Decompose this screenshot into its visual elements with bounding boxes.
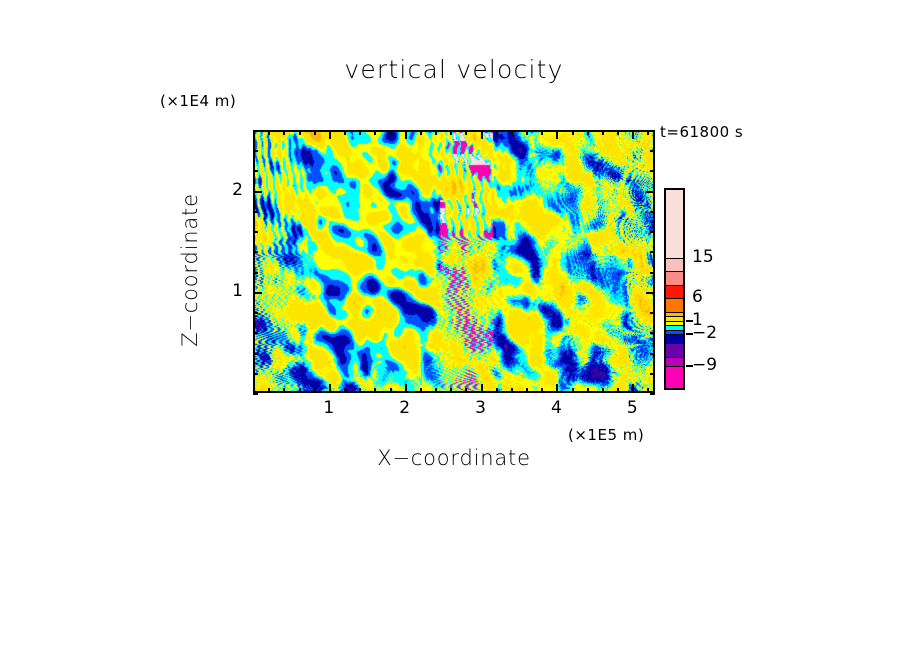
x-major-tick-top: [329, 130, 331, 139]
y-minor-tick-right: [650, 393, 655, 395]
colorbar-band: [666, 190, 683, 258]
x-major-tick: [329, 384, 331, 393]
x-minor-tick: [390, 388, 392, 393]
x-minor-tick-top: [450, 130, 452, 135]
x-major-tick-top: [632, 130, 634, 139]
x-tick-label: 4: [541, 398, 571, 418]
x-minor-tick-top: [572, 130, 574, 135]
x-major-tick: [405, 384, 407, 393]
colorbar-band: [666, 298, 683, 312]
x-minor-tick: [299, 388, 301, 393]
colorbar-band: [666, 343, 683, 357]
y-major-tick: [253, 292, 262, 294]
y-major-tick: [253, 191, 262, 193]
figure-canvas: vertical velocity (×1E4 m) t=61800 s 123…: [0, 0, 904, 654]
x-minor-tick-top: [647, 130, 649, 135]
x-axis-unit-label: (×1E5 m): [568, 426, 644, 444]
y-minor-tick: [253, 373, 258, 375]
colorbar-tick-label: 15: [692, 247, 714, 267]
y-minor-tick: [253, 211, 258, 213]
x-minor-tick: [602, 388, 604, 393]
x-minor-tick: [587, 388, 589, 393]
time-annotation: t=61800 s: [660, 123, 743, 141]
y-major-tick-right: [646, 292, 655, 294]
x-major-tick: [556, 384, 558, 393]
x-tick-label: 2: [390, 398, 420, 418]
y-minor-tick: [253, 231, 258, 233]
x-minor-tick: [572, 388, 574, 393]
x-axis-title: X−coordinate: [253, 446, 655, 470]
x-major-tick: [481, 384, 483, 393]
x-minor-tick: [647, 388, 649, 393]
y-minor-tick: [253, 251, 258, 253]
colorbar-band-separator: [666, 285, 683, 286]
y-minor-tick-right: [650, 251, 655, 253]
y-minor-tick-right: [650, 332, 655, 334]
x-minor-tick-top: [435, 130, 437, 135]
colorbar-band-separator: [666, 316, 683, 317]
velocity-field-heatmap: [255, 132, 655, 393]
x-minor-tick: [617, 388, 619, 393]
y-minor-tick: [253, 353, 258, 355]
page-title: vertical velocity: [253, 55, 655, 84]
colorbar-tick-label: −2: [692, 323, 717, 343]
x-minor-tick: [420, 388, 422, 393]
colorbar[interactable]: [664, 188, 685, 390]
plot-area[interactable]: [253, 130, 655, 393]
x-minor-tick-top: [390, 130, 392, 135]
y-minor-tick: [253, 150, 258, 152]
z-axis-unit-label: (×1E4 m): [160, 92, 236, 110]
y-minor-tick: [253, 272, 258, 274]
colorbar-leader-line: [686, 320, 693, 322]
colorbar-band: [666, 285, 683, 299]
colorbar-band: [666, 271, 683, 285]
y-tick-label: 1: [213, 281, 243, 301]
x-minor-tick: [374, 388, 376, 393]
y-minor-tick: [253, 332, 258, 334]
x-minor-tick: [511, 388, 513, 393]
x-minor-tick-top: [496, 130, 498, 135]
x-minor-tick: [268, 388, 270, 393]
x-minor-tick-top: [526, 130, 528, 135]
colorbar-band-separator: [666, 343, 683, 344]
y-tick-label: 2: [213, 180, 243, 200]
x-minor-tick: [359, 388, 361, 393]
y-axis-title: Z−coordinate: [178, 160, 202, 380]
x-minor-tick-top: [299, 130, 301, 135]
colorbar-tick-label: −9: [692, 355, 717, 375]
colorbar-band-separator: [666, 357, 683, 358]
y-major-tick-right: [646, 191, 655, 193]
x-minor-tick-top: [283, 130, 285, 135]
y-minor-tick-right: [650, 211, 655, 213]
y-minor-tick-right: [650, 373, 655, 375]
x-minor-tick: [283, 388, 285, 393]
colorbar-band-separator: [666, 325, 683, 326]
y-minor-tick-right: [650, 130, 655, 132]
x-minor-tick: [435, 388, 437, 393]
x-minor-tick-top: [602, 130, 604, 135]
x-minor-tick: [526, 388, 528, 393]
x-minor-tick-top: [344, 130, 346, 135]
x-minor-tick-top: [465, 130, 467, 135]
x-minor-tick: [450, 388, 452, 393]
x-minor-tick: [314, 388, 316, 393]
y-minor-tick-right: [650, 150, 655, 152]
colorbar-band-separator: [666, 330, 683, 331]
colorbar-leader-line: [686, 333, 693, 335]
colorbar-band-separator: [666, 312, 683, 313]
y-minor-tick: [253, 130, 258, 132]
x-major-tick: [632, 384, 634, 393]
x-minor-tick-top: [268, 130, 270, 135]
x-tick-label: 1: [314, 398, 344, 418]
x-minor-tick-top: [314, 130, 316, 135]
x-minor-tick-top: [374, 130, 376, 135]
colorbar-band: [666, 366, 683, 389]
y-minor-tick-right: [650, 353, 655, 355]
x-tick-label: 5: [617, 398, 647, 418]
x-minor-tick-top: [541, 130, 543, 135]
colorbar-band-separator: [666, 271, 683, 272]
y-minor-tick-right: [650, 170, 655, 172]
x-minor-tick-top: [587, 130, 589, 135]
x-minor-tick-top: [420, 130, 422, 135]
x-major-tick-top: [405, 130, 407, 139]
y-minor-tick: [253, 393, 258, 395]
colorbar-band-separator: [666, 321, 683, 322]
colorbar-tick-label: 6: [692, 287, 703, 307]
x-major-tick-top: [481, 130, 483, 139]
y-minor-tick: [253, 312, 258, 314]
x-minor-tick: [496, 388, 498, 393]
y-minor-tick-right: [650, 231, 655, 233]
x-minor-tick-top: [511, 130, 513, 135]
x-minor-tick: [541, 388, 543, 393]
x-tick-label: 3: [466, 398, 496, 418]
colorbar-band: [666, 258, 683, 272]
colorbar-band-separator: [666, 298, 683, 299]
colorbar-band-separator: [666, 258, 683, 259]
x-minor-tick-top: [359, 130, 361, 135]
y-minor-tick-right: [650, 272, 655, 274]
x-minor-tick: [465, 388, 467, 393]
x-minor-tick-top: [617, 130, 619, 135]
colorbar-leader-line: [686, 365, 693, 367]
x-minor-tick: [344, 388, 346, 393]
colorbar-band-separator: [666, 366, 683, 367]
colorbar-band: [666, 357, 683, 366]
x-major-tick-top: [556, 130, 558, 139]
y-minor-tick-right: [650, 312, 655, 314]
colorbar-band: [666, 334, 683, 343]
y-minor-tick: [253, 170, 258, 172]
colorbar-band-separator: [666, 334, 683, 335]
